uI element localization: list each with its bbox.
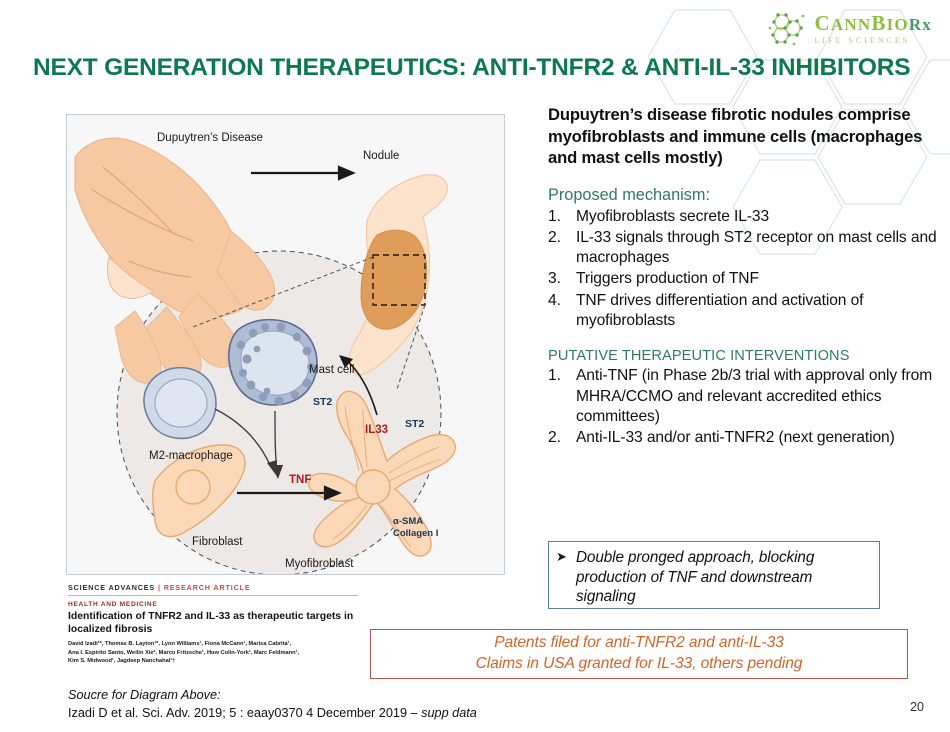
brand-logo: CANNBIORx LIFE SCIENCES	[765, 8, 932, 50]
source-label: Soucre for Diagram Above:	[68, 686, 588, 704]
patent-status-box: Patents filed for anti-TNFR2 and anti-IL…	[370, 629, 908, 679]
journal-authors: David Izadi¹*, Thomas B. Layton¹*, Lynn …	[68, 640, 358, 665]
page-number: 20	[910, 700, 924, 714]
list-item: 1. Myofibroblasts secrete IL-33	[548, 207, 940, 227]
svg-text:Myofibroblast: Myofibroblast	[285, 558, 354, 570]
double-pronged-callout: ➤ Double pronged approach, blocking prod…	[548, 541, 880, 609]
svg-text:α-SMA: α-SMA	[393, 516, 423, 527]
svg-text:TNF: TNF	[289, 474, 311, 486]
list-item-number: 1.	[548, 366, 570, 427]
brand-tagline: LIFE SCIENCES	[815, 37, 932, 45]
journal-article-title: Identification of TNFR2 and IL-33 as the…	[68, 611, 358, 636]
svg-text:Dupuytren’s Disease: Dupuytren’s Disease	[157, 132, 263, 144]
svg-text:Fibroblast: Fibroblast	[192, 536, 243, 548]
putative-interventions-heading: PUTATIVE THERAPEUTIC INTERVENTIONS	[548, 348, 940, 364]
page-title: NEXT GENERATION THERAPEUTICS: ANTI-TNFR2…	[33, 54, 923, 82]
list-item: 4. TNF drives differentiation and activa…	[548, 291, 940, 332]
list-item-number: 2.	[548, 228, 570, 269]
proposed-mechanism-heading: Proposed mechanism:	[548, 186, 940, 205]
source-citation: Izadi D et al. Sci. Adv. 2019; 5 : eaay0…	[68, 704, 588, 722]
right-content-column: Dupuytren’s disease fibrotic nodules com…	[548, 104, 940, 448]
source-citation-main: Izadi D et al. Sci. Adv. 2019; 5 : eaay0…	[68, 706, 421, 720]
journal-citation-block: SCIENCE ADVANCES | RESEARCH ARTICLE HEAL…	[68, 583, 358, 665]
journal-divider	[68, 595, 358, 596]
list-item-text: IL-33 signals through ST2 receptor on ma…	[576, 228, 940, 269]
arrow-bullet-icon: ➤	[556, 548, 576, 602]
list-item: 1. Anti-TNF (in Phase 2b/3 trial with ap…	[548, 366, 940, 427]
list-item-number: 4.	[548, 291, 570, 332]
list-item-text: Triggers production of TNF	[576, 269, 940, 289]
list-item-text: Anti-TNF (in Phase 2b/3 trial with appro…	[576, 366, 940, 427]
patent-line-2: Claims in USA granted for IL-33, others …	[476, 654, 803, 675]
list-item: 2. IL-33 signals through ST2 receptor on…	[548, 228, 940, 269]
svg-text:M2-macrophage: M2-macrophage	[149, 450, 233, 462]
source-footer: Soucre for Diagram Above: Izadi D et al.…	[68, 686, 588, 722]
author-line: David Izadi¹*, Thomas B. Layton¹*, Lynn …	[68, 640, 358, 648]
list-item: 2. Anti-IL-33 and/or anti-TNFR2 (next ge…	[548, 428, 940, 448]
lede-paragraph: Dupuytren’s disease fibrotic nodules com…	[548, 104, 940, 169]
proposed-mechanism-list: 1. Myofibroblasts secrete IL-33 2. IL-33…	[548, 207, 940, 332]
journal-masthead-divider: |	[158, 583, 161, 592]
putative-interventions-list: 1. Anti-TNF (in Phase 2b/3 trial with ap…	[548, 366, 940, 448]
source-citation-suffix: supp data	[421, 706, 477, 720]
author-line: Ana I. Espirito Santo, Weilin Xie², Marc…	[68, 649, 358, 657]
list-item-number: 1.	[548, 207, 570, 227]
callout-text: Double pronged approach, blocking produc…	[576, 548, 871, 602]
svg-text:ST2: ST2	[313, 396, 332, 408]
svg-text:ST2: ST2	[405, 418, 424, 430]
journal-section: HEALTH AND MEDICINE	[68, 601, 358, 608]
dupuytren-mechanism-diagram: Dupuytren’s Disease Nodule Mast cell ST2…	[66, 114, 505, 575]
journal-masthead: SCIENCE ADVANCES	[68, 583, 155, 592]
svg-text:IL33: IL33	[365, 424, 388, 436]
svg-text:Nodule: Nodule	[363, 150, 399, 162]
svg-text:Collagen I: Collagen I	[393, 528, 438, 539]
list-item-number: 3.	[548, 269, 570, 289]
list-item-text: Myofibroblasts secrete IL-33	[576, 207, 940, 227]
author-line: Kim S. Midwood¹, Jagdeep Nanchahal¹†	[68, 657, 358, 665]
journal-article-kind: RESEARCH ARTICLE	[164, 583, 251, 592]
brand-name: CANNBIORx	[815, 13, 932, 34]
molecule-icon	[765, 8, 809, 50]
list-item-number: 2.	[548, 428, 570, 448]
patent-line-1: Patents filed for anti-TNFR2 and anti-IL…	[494, 633, 784, 654]
list-item-text: Anti-IL-33 and/or anti-TNFR2 (next gener…	[576, 428, 940, 448]
list-item-text: TNF drives differentiation and activatio…	[576, 291, 940, 332]
svg-text:Mast cell: Mast cell	[309, 364, 354, 376]
list-item: 3. Triggers production of TNF	[548, 269, 940, 289]
